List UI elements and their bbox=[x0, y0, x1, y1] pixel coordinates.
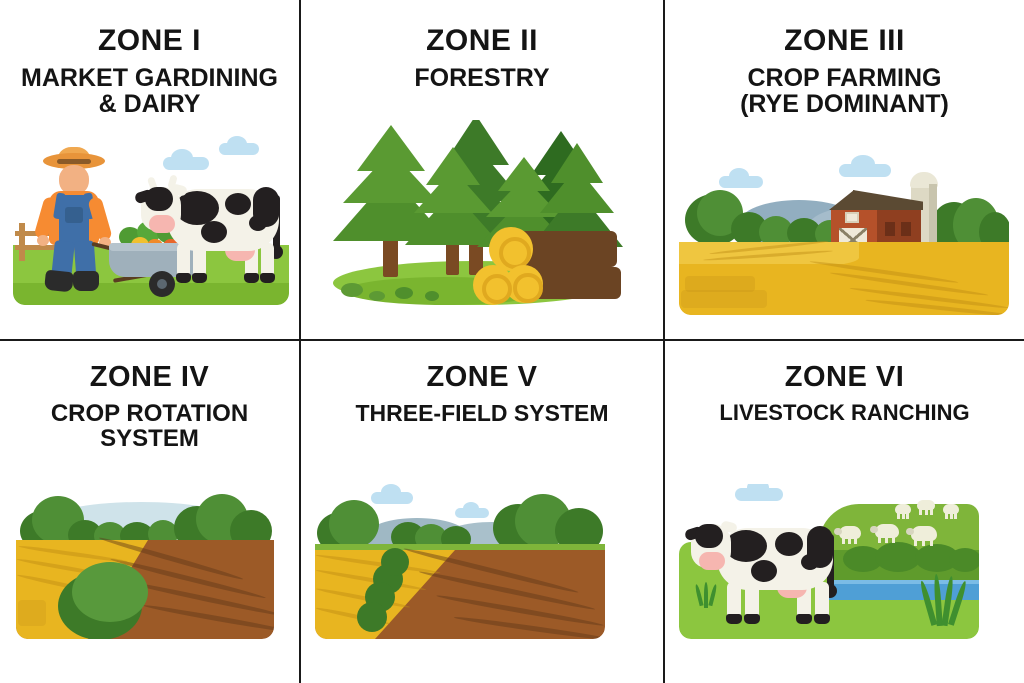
zone-6-title: ZONE VI bbox=[785, 363, 905, 392]
panel-zone-2[interactable]: ZONE II FORESTRY bbox=[301, 0, 665, 341]
zone-6-subtitle-line1: LIVESTOCK RANCHING bbox=[719, 401, 969, 424]
sheep-icon bbox=[911, 526, 937, 541]
zone-1-subtitle-line1: MARKET GARDINING bbox=[10, 65, 290, 91]
panel-zone-1[interactable]: ZONE I MARKET GARDINING & DAIRY bbox=[0, 0, 301, 341]
zone-3-subtitle-line2: (RYE DOMINANT) bbox=[680, 91, 1010, 117]
zone-4-subtitle-line1: CROP ROTATION bbox=[20, 401, 280, 426]
zone-5-subtitle: THREE-FIELD SYSTEM bbox=[355, 401, 608, 425]
zone-6-illustration bbox=[679, 484, 979, 639]
zone-2-subtitle-line1: FORESTRY bbox=[414, 65, 549, 91]
log-pile-icon bbox=[473, 225, 623, 299]
zone-5-illustration bbox=[315, 484, 605, 639]
cloud-icon bbox=[219, 143, 259, 155]
dairy-cow-figure bbox=[141, 169, 289, 289]
zone-4-subtitle: CROP ROTATION SYSTEM bbox=[20, 401, 280, 451]
dairy-cow-figure bbox=[689, 510, 849, 630]
sheep-icon bbox=[917, 500, 935, 510]
cloud-icon bbox=[719, 176, 763, 188]
zone-2-subtitle: FORESTRY bbox=[414, 65, 549, 91]
cloud-icon bbox=[455, 508, 489, 518]
zone-5-subtitle-line1: THREE-FIELD SYSTEM bbox=[355, 401, 608, 425]
sheep-icon bbox=[875, 524, 899, 538]
zone-1-illustration bbox=[13, 133, 289, 305]
zone-1-title: ZONE I bbox=[98, 26, 201, 56]
cloud-icon bbox=[371, 492, 413, 504]
panel-zone-3[interactable]: ZONE III CROP FARMING (RYE DOMINANT) bbox=[665, 0, 1024, 341]
zone-2-illustration bbox=[325, 120, 625, 305]
zone-3-subtitle: CROP FARMING (RYE DOMINANT) bbox=[680, 65, 1010, 118]
zone-4-subtitle-line2: SYSTEM bbox=[20, 426, 280, 451]
zone-4-title: ZONE IV bbox=[90, 363, 210, 392]
zone-1-subtitle: MARKET GARDINING & DAIRY bbox=[10, 65, 290, 118]
zone-3-illustration bbox=[679, 150, 1009, 315]
zone-3-subtitle-line1: CROP FARMING bbox=[680, 65, 1010, 91]
cloud-icon bbox=[735, 488, 783, 501]
zone-6-subtitle: LIVESTOCK RANCHING bbox=[719, 401, 969, 424]
zone-3-title: ZONE III bbox=[784, 26, 905, 56]
panel-zone-4[interactable]: ZONE IV CROP ROTATION SYSTEM bbox=[0, 341, 301, 683]
zone-2-title: ZONE II bbox=[426, 26, 538, 56]
zone-grid: ZONE I MARKET GARDINING & DAIRY bbox=[0, 0, 1024, 683]
sheep-icon bbox=[895, 504, 911, 514]
zone-4-illustration bbox=[16, 484, 274, 639]
zone-1-subtitle-line2: & DAIRY bbox=[10, 91, 290, 117]
cloud-icon bbox=[839, 164, 891, 177]
zone-5-title: ZONE V bbox=[427, 363, 538, 392]
sheep-icon bbox=[943, 504, 959, 514]
panel-zone-5[interactable]: ZONE V THREE-FIELD SYSTEM bbox=[301, 341, 665, 683]
panel-zone-6[interactable]: ZONE VI LIVESTOCK RANCHING bbox=[665, 341, 1024, 683]
